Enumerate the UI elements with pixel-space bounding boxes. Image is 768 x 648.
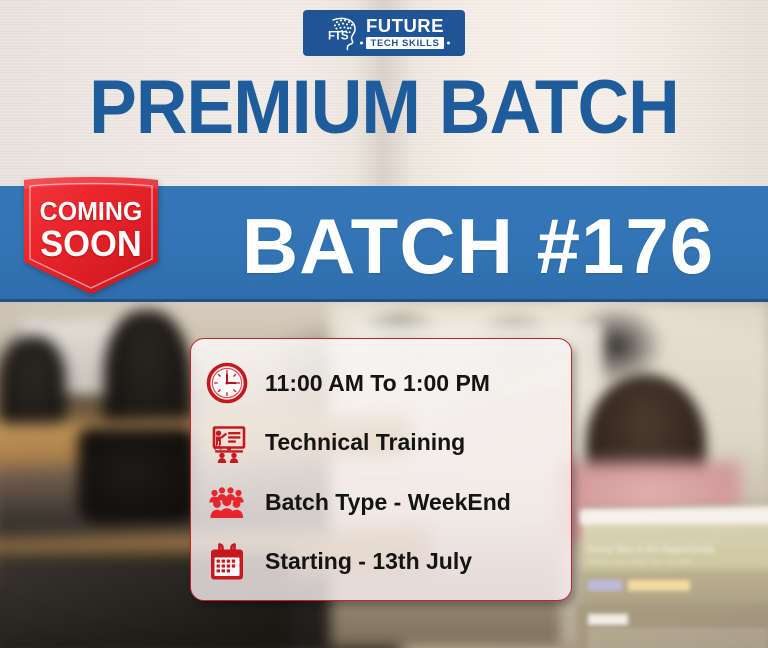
batch-details-card: 11:00 AM To 1:00 PM: [190, 338, 572, 601]
brain-head-icon: FTS: [324, 14, 362, 52]
svg-text:FTS: FTS: [328, 31, 349, 43]
brand-logo: FTS FUTURE TECH SKILLS: [303, 10, 465, 56]
detail-row-batch-type: Batch Type - WeekEnd: [205, 474, 561, 530]
page-title: PREMIUM BATCH: [23, 70, 745, 146]
people-group-icon: [205, 480, 249, 524]
logo-name-bottom: TECH SKILLS: [366, 37, 444, 49]
presentation-training-icon: [205, 421, 249, 465]
coming-soon-ribbon: COMING SOON: [16, 176, 166, 296]
detail-label-training: Technical Training: [265, 429, 465, 456]
detail-label-start-date: Starting - 13th July: [265, 548, 472, 575]
detail-row-time: 11:00 AM To 1:00 PM: [205, 355, 561, 411]
clock-icon: [205, 361, 249, 405]
promo-poster: FTS FUTURE TECH SKILLS PREMIUM BATCH BAT…: [0, 0, 768, 648]
calendar-icon: [205, 540, 249, 584]
batch-number-title: BATCH #176: [188, 196, 768, 296]
logo-wordmark: FUTURE TECH SKILLS: [366, 17, 444, 50]
detail-label-time: 11:00 AM To 1:00 PM: [265, 370, 490, 397]
logo-name-top: FUTURE: [366, 17, 444, 36]
detail-row-type-of-training: Technical Training: [205, 415, 561, 471]
logo-box: FTS FUTURE TECH SKILLS: [303, 10, 465, 56]
detail-row-start-date: Starting - 13th July: [205, 534, 561, 590]
detail-label-batch-type: Batch Type - WeekEnd: [265, 489, 511, 516]
